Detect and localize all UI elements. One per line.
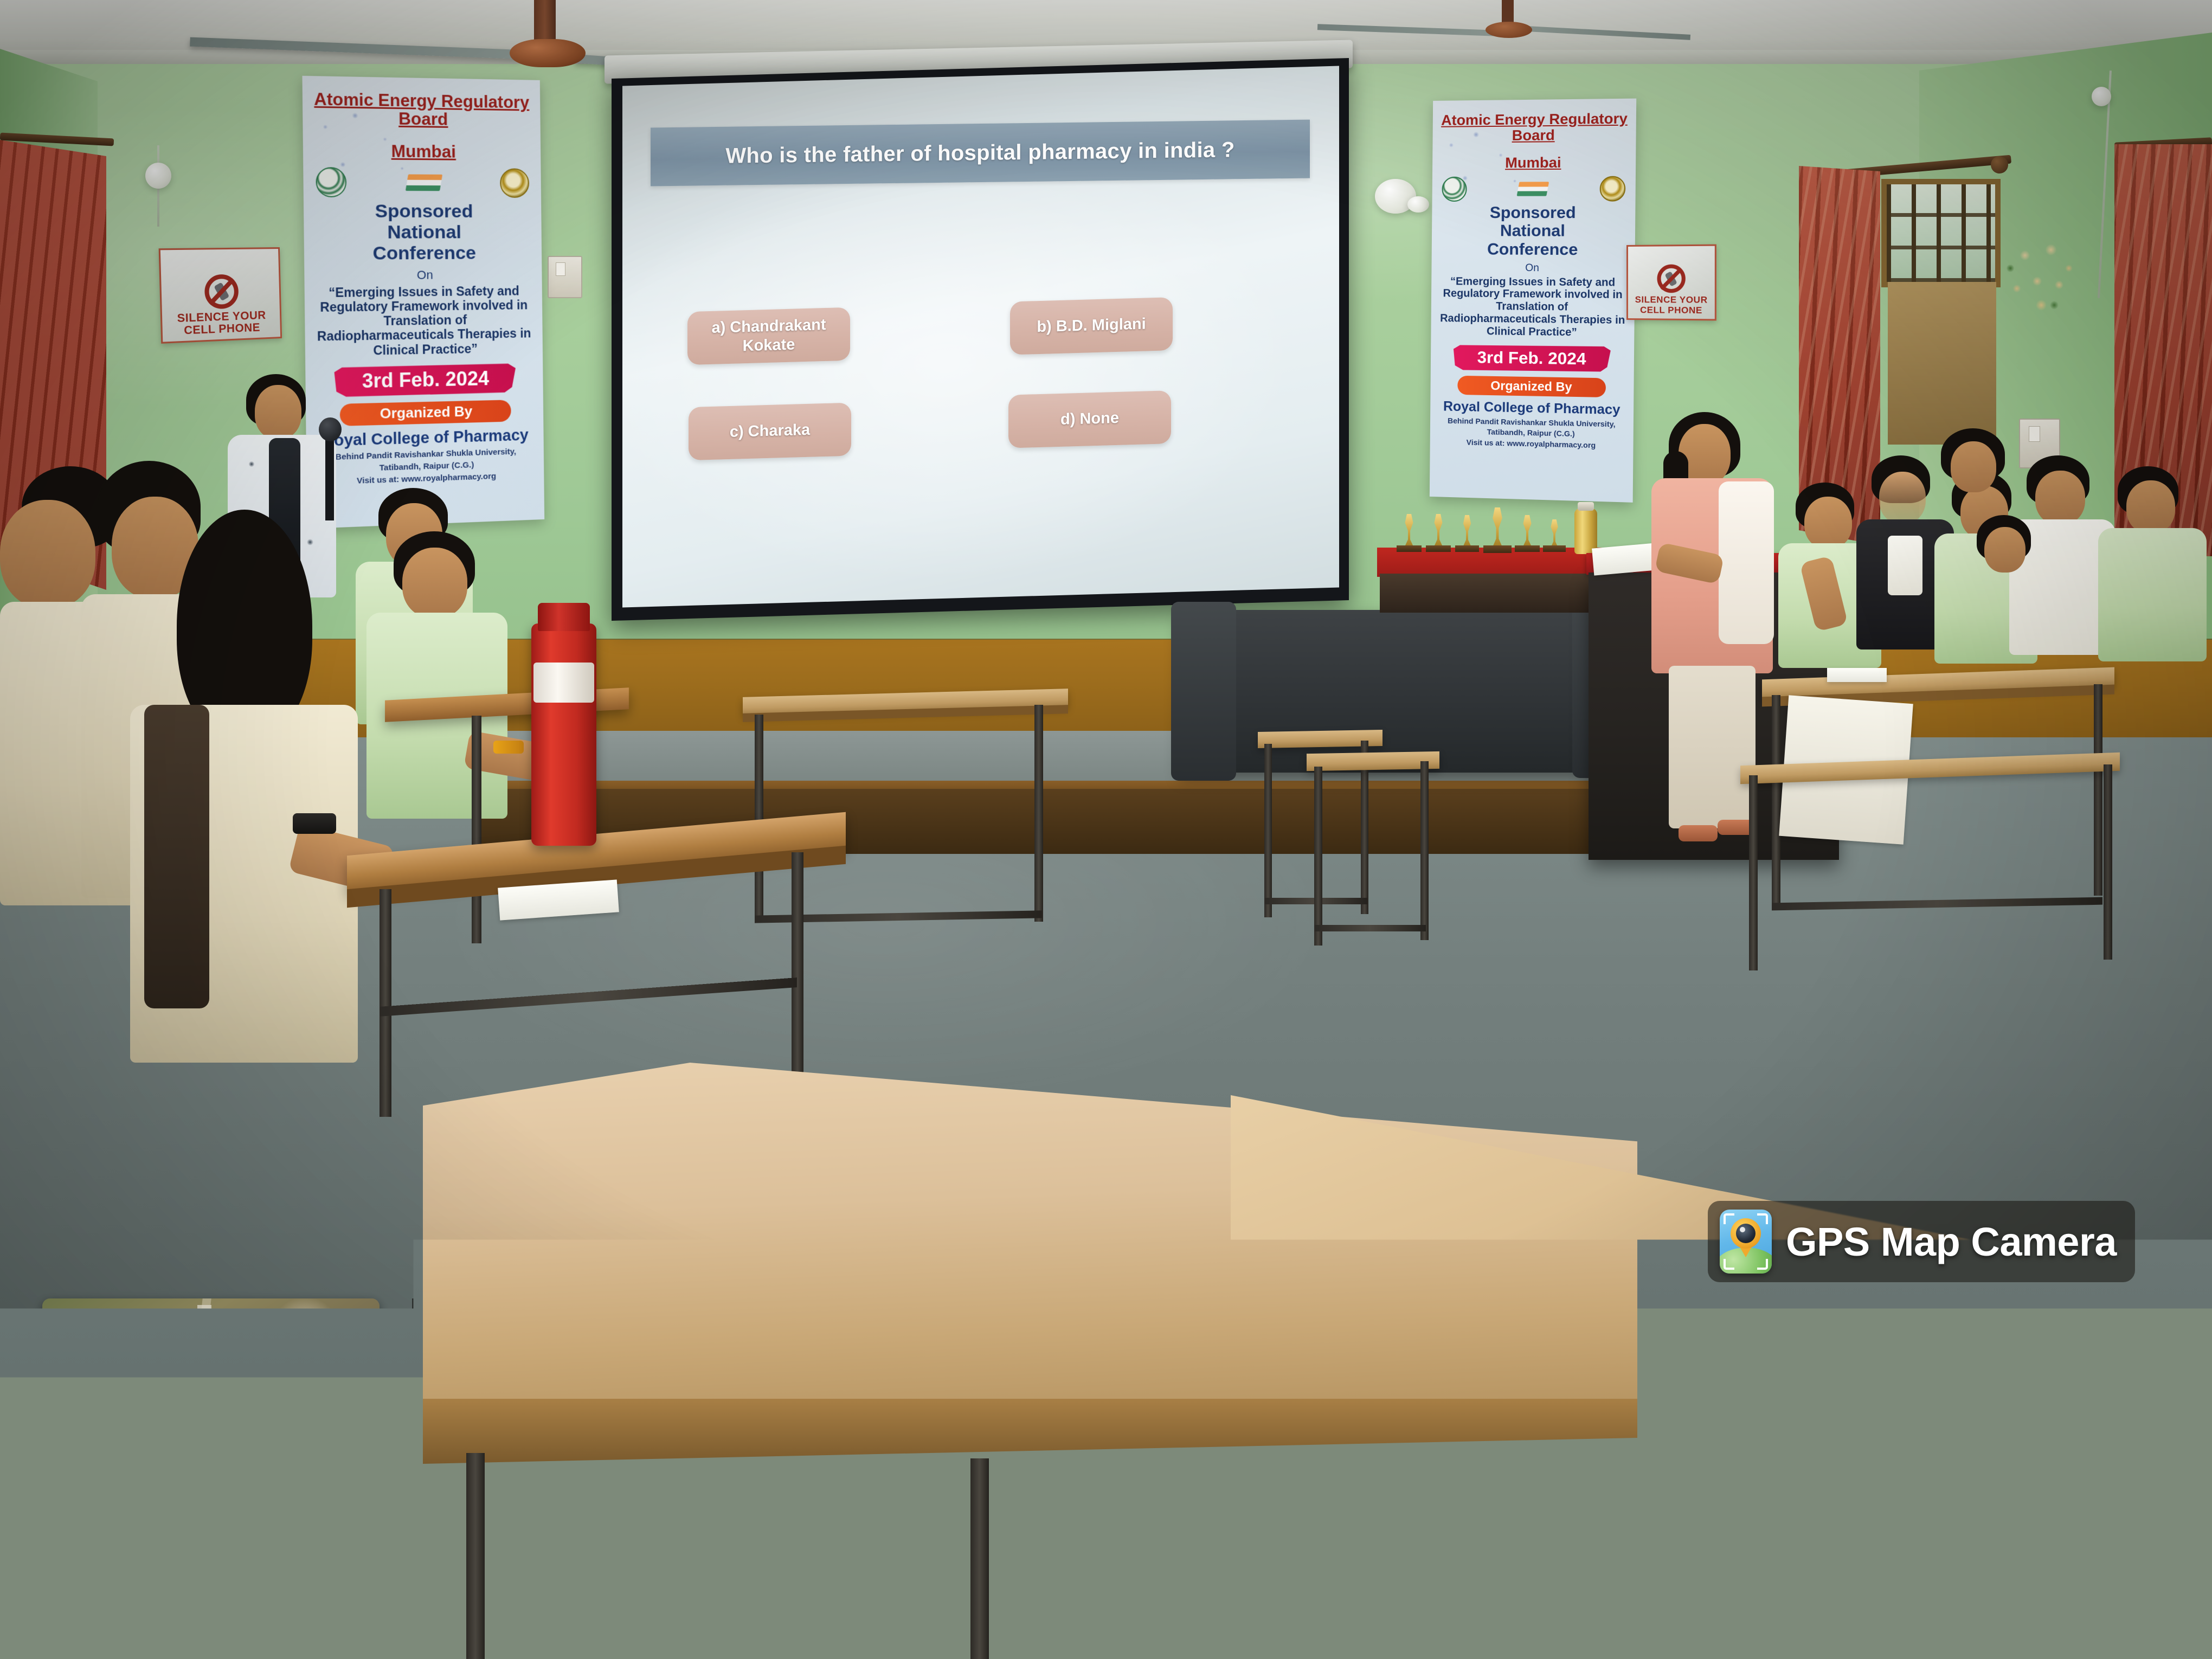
wall-fixture: [145, 163, 171, 189]
slide-option-c: c) Charaka: [689, 403, 851, 460]
desk-leg: [1772, 695, 1780, 906]
poster-date-badge: 3rd Feb. 2024: [1450, 343, 1614, 374]
spacer: [427, 1410, 2169, 1416]
bottle-cap: [538, 603, 590, 631]
gps-info-overlay: Google Raipur, Chhattisgarh, India 6HXP+…: [42, 1298, 2190, 1624]
stole: [144, 705, 209, 1008]
poster-organized-by-badge: Organized By: [340, 400, 511, 426]
stool-top: [1307, 751, 1439, 771]
curtain-rod-finial: [1991, 156, 2008, 173]
head: [402, 548, 467, 618]
silence-cell-phone-sign-left: SILENCE YOUR CELL PHONE: [159, 247, 282, 344]
sign-text-line1: SILENCE YOUR: [1635, 295, 1708, 305]
dupatta: [1719, 481, 1774, 644]
inner-top: [1888, 536, 1922, 595]
desk-leg: [2104, 764, 2112, 960]
ceiling-fan-motor: [510, 39, 586, 67]
no-cellphone-icon: [204, 274, 239, 309]
sofa: [1179, 610, 1635, 773]
stool-stretcher: [1314, 925, 1426, 931]
desk-leg: [380, 889, 391, 1117]
stool-leg: [1264, 744, 1272, 917]
bottle-cap: [1578, 502, 1594, 511]
gps-longitude: Long 81.585651°: [427, 1461, 2169, 1504]
gps-city-line: Raipur, Chhattisgarh, India: [427, 1317, 2169, 1365]
sign-text-line2: CELL PHONE: [184, 322, 260, 338]
poster-on-label: On: [1431, 262, 1635, 275]
wall-flower-decoration: [2001, 228, 2082, 320]
slide-option-b: b) B.D. Miglani: [1010, 297, 1173, 355]
window: [1881, 179, 2001, 287]
trophy-base: [1426, 545, 1451, 552]
google-attribution-logo: Google: [56, 1567, 202, 1612]
bench-leg: [1034, 705, 1043, 922]
head: [255, 385, 301, 439]
poster-organized-by-badge: Organized By: [1457, 375, 1606, 397]
doorway: [1888, 282, 1996, 445]
ceiling-fan-motor: [1486, 22, 1532, 38]
audience-member: [2093, 466, 2207, 699]
sign-text-line2: CELL PHONE: [1640, 305, 1702, 316]
head: [1804, 497, 1852, 549]
desk-leg: [472, 716, 481, 943]
paper-on-desk: [1827, 668, 1887, 682]
silence-cell-phone-sign-right: SILENCE YOUR CELL PHONE: [1626, 245, 1716, 321]
gps-address-line: 6HXP+598, Amanaka, Raipur, Chhattisgarh …: [427, 1366, 2169, 1409]
bangle: [493, 741, 524, 754]
head: [1951, 441, 1996, 492]
map-thumbnail[interactable]: Google: [42, 1298, 380, 1624]
poster-theme-text: “Emerging Issues in Safety and Regulator…: [1437, 275, 1628, 340]
poster-date-badge: 3rd Feb. 2024: [330, 362, 519, 398]
gps-map-camera-watermark: GPS Map Camera: [1708, 1201, 2135, 1282]
poster-college-name: Royal College of Pharmacy: [1430, 398, 1634, 419]
sofa-arm: [1171, 602, 1236, 781]
viewfinder-bracket-icon: [1724, 1259, 1734, 1270]
desk-leg: [792, 852, 803, 1085]
footwear: [1679, 825, 1718, 841]
trousers: [1669, 666, 1756, 828]
light-switch-plate[interactable]: [548, 256, 582, 298]
trophy-base: [1397, 545, 1422, 552]
azadi-amrit-mahotsav-icon: [1517, 182, 1549, 196]
bottle-label-band: [533, 663, 594, 703]
poster-decorative-dots: [1440, 124, 1529, 228]
gps-map-camera-app-icon: [1720, 1210, 1772, 1274]
trophy-base: [1543, 545, 1566, 552]
wall-fixture: [1407, 196, 1429, 213]
poster-decorative-dots: [312, 103, 420, 221]
window-bars-horizontal: [1887, 184, 1995, 282]
head: [1879, 472, 1926, 524]
college-emblem-icon: [500, 168, 529, 197]
ceiling-fan-rod: [534, 0, 556, 43]
azadi-amrit-mahotsav-icon: [406, 174, 442, 191]
poster-on-label: On: [304, 267, 542, 284]
stool-leg: [1420, 761, 1429, 940]
gps-latitude: Lat 21.247152°: [427, 1417, 2169, 1460]
projection-screen: Who is the father of hospital pharmacy i…: [622, 66, 1339, 608]
head: [2126, 480, 2175, 533]
camera-lens-icon: [1736, 1224, 1756, 1243]
desk-leg: [1749, 775, 1758, 970]
poster-theme-text: “Emerging Issues in Safety and Regulator…: [312, 284, 535, 359]
microphone-stand: [325, 428, 334, 520]
conference-poster-right: Atomic Energy Regulatory Board Mumbai Sp…: [1430, 99, 1636, 503]
slide-question-text: Who is the father of hospital pharmacy i…: [725, 138, 1234, 168]
audience-member-back-row: [1963, 515, 2049, 613]
watermark-app-name: GPS Map Camera: [1786, 1219, 2117, 1265]
water-bottle: [1574, 509, 1597, 554]
bench-leg: [755, 715, 763, 921]
college-emblem-icon: [1600, 176, 1626, 201]
photograph-canvas: Who is the father of hospital pharmacy i…: [0, 0, 2212, 1659]
wall-fixture: [2092, 87, 2111, 106]
no-cellphone-icon: [1657, 265, 1685, 293]
audience-member-foreground: [130, 510, 358, 1084]
trophy-base: [1455, 545, 1479, 552]
map-treeline: [252, 1370, 366, 1399]
viewfinder-bracket-icon: [1757, 1213, 1768, 1224]
torso-uniform-shirt: [2098, 528, 2207, 661]
wristwatch: [293, 813, 336, 834]
trophy-base: [1483, 545, 1512, 553]
red-water-bottle: [531, 623, 596, 846]
map-parcel: [56, 1324, 144, 1422]
viewfinder-bracket-icon: [1724, 1213, 1734, 1224]
microphone-head: [319, 417, 342, 441]
prohibition-slash: [208, 278, 235, 306]
prohibition-slash: [1660, 267, 1682, 290]
slide-question-bar: Who is the father of hospital pharmacy i…: [651, 120, 1310, 187]
viewfinder-bracket-icon: [1757, 1259, 1768, 1270]
stool-leg: [1314, 767, 1322, 946]
trophy-base: [1515, 545, 1540, 552]
slide-option-a: a) Chandrakant Kokate: [687, 307, 850, 365]
head: [1984, 527, 2025, 573]
slide-option-d: d) None: [1008, 390, 1171, 448]
gps-timestamp: 06/03/24 02:20 PM GMT +05:30: [427, 1505, 2169, 1548]
desk-leg: [2094, 684, 2102, 896]
gps-text-block: Raipur, Chhattisgarh, India 6HXP+598, Am…: [412, 1298, 2190, 1624]
